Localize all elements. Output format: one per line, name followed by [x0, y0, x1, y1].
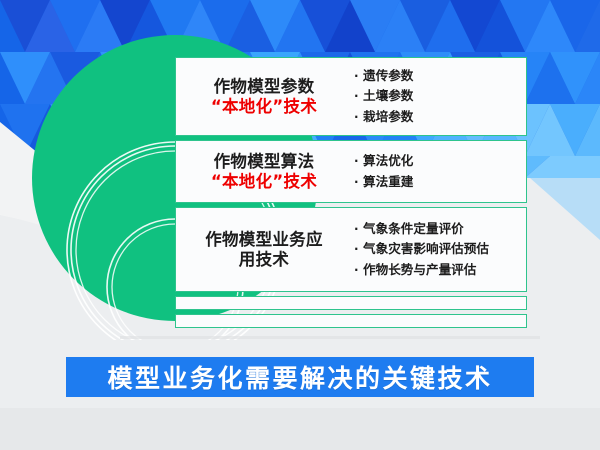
row-title-main-3b: 用技术	[180, 250, 348, 269]
bullet-text: 算法重建	[363, 174, 413, 189]
bullet-dot-icon: ·	[354, 173, 363, 192]
bullet-text: 栽培参数	[363, 109, 413, 124]
row-bullets-1: ·遗传参数 ·土壤参数 ·栽培参数	[348, 66, 526, 127]
bottom-title-banner: 模型业务化需要解决的关键技术	[66, 357, 534, 397]
row-title-2: 作物模型算法 “本地化”技术	[176, 152, 348, 191]
row-title-red-1: “本地化”技术	[180, 97, 348, 116]
bullet-dot-icon: ·	[354, 67, 363, 86]
bullet-item: ·算法重建	[354, 172, 526, 192]
bullet-text: 作物长势与产量评估	[363, 262, 476, 277]
bullet-item: ·土壤参数	[354, 86, 526, 106]
bullet-dot-icon: ·	[354, 108, 363, 127]
bullet-dot-icon: ·	[354, 240, 363, 259]
bullet-item: ·栽培参数	[354, 107, 526, 127]
row-title-main-3: 作物模型业务应	[180, 230, 348, 249]
bullet-item: ·气象灾害影响评估预估	[354, 239, 526, 259]
row-title-3: 作物模型业务应 用技术	[176, 230, 348, 269]
bullet-item: ·遗传参数	[354, 66, 526, 86]
bullet-dot-icon: ·	[354, 220, 363, 239]
technology-rows: 作物模型参数 “本地化”技术 ·遗传参数 ·土壤参数 ·栽培参数 作物模型算法 …	[175, 57, 527, 332]
bullet-text: 气象灾害影响评估预估	[363, 241, 489, 256]
row-title-1: 作物模型参数 “本地化”技术	[176, 77, 348, 116]
bullet-item: ·算法优化	[354, 151, 526, 171]
row-crop-model-parameters[interactable]: 作物模型参数 “本地化”技术 ·遗传参数 ·土壤参数 ·栽培参数	[175, 57, 527, 136]
row-placeholder-2[interactable]	[175, 314, 527, 328]
row-placeholder-1[interactable]	[175, 296, 527, 310]
row-title-main-2: 作物模型算法	[180, 152, 348, 171]
bullet-item: ·气象条件定量评价	[354, 219, 526, 239]
row-crop-model-application[interactable]: 作物模型业务应 用技术 ·气象条件定量评价 ·气象灾害影响评估预估 ·作物长势与…	[175, 207, 527, 292]
row-bullets-3: ·气象条件定量评价 ·气象灾害影响评估预估 ·作物长势与产量评估	[348, 219, 526, 280]
row-crop-model-algorithm[interactable]: 作物模型算法 “本地化”技术 ·算法优化 ·算法重建	[175, 140, 527, 203]
bullet-text: 气象条件定量评价	[363, 221, 464, 236]
row-bullets-2: ·算法优化 ·算法重建	[348, 151, 526, 192]
bullet-text: 土壤参数	[363, 88, 413, 103]
bullet-item: ·作物长势与产量评估	[354, 260, 526, 280]
slide-canvas: 作物模型参数 “本地化”技术 ·遗传参数 ·土壤参数 ·栽培参数 作物模型算法 …	[0, 0, 600, 450]
bullet-dot-icon: ·	[354, 87, 363, 106]
banner-title-text: 模型业务化需要解决的关键技术	[107, 359, 492, 395]
page-footer-band	[0, 408, 600, 450]
bullet-text: 算法优化	[363, 153, 413, 168]
bullet-text: 遗传参数	[363, 68, 413, 83]
bullet-dot-icon: ·	[354, 152, 363, 171]
row-title-red-2: “本地化”技术	[180, 172, 348, 191]
bullet-dot-icon: ·	[354, 261, 363, 280]
row-title-main-1: 作物模型参数	[180, 77, 348, 96]
